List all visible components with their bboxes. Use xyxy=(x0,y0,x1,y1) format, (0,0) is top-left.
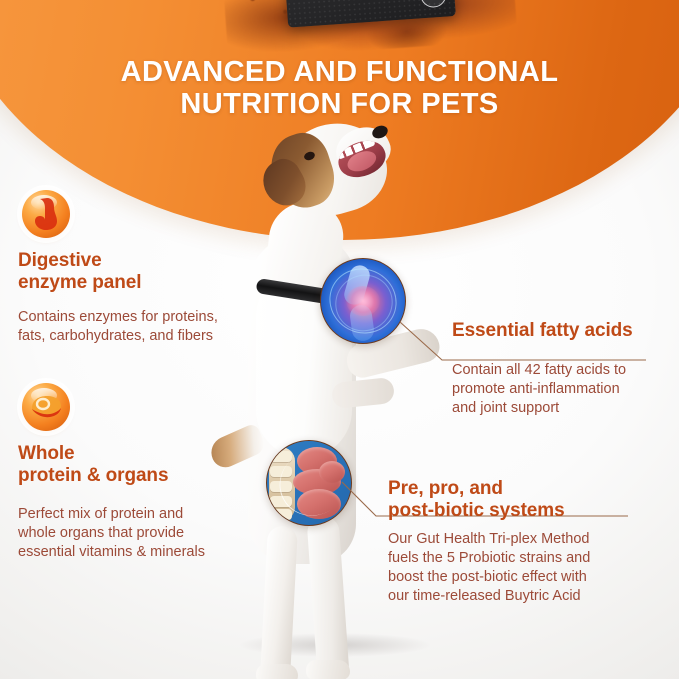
meat-cut-icon xyxy=(22,383,70,431)
fatty-body-line-2: promote anti-inflammation xyxy=(452,381,620,397)
whole-title-line-2: protein & organs xyxy=(18,465,168,486)
feature-title-digestive: Digestive enzyme panel xyxy=(18,250,248,295)
feature-body-fatty-acids: Contain all 42 fatty acids to promote an… xyxy=(452,361,674,418)
headline-line-1: ADVANCED AND FUNCTIONAL xyxy=(121,56,559,88)
fatty-body-line-1: Contain all 42 fatty acids to xyxy=(452,362,626,378)
biotic-body-line-3: boost the post-biotic effect with xyxy=(388,569,587,585)
biotic-body-line-4: our time-released Buytric Acid xyxy=(388,588,581,604)
feature-title-biotic: Pre, pro, and post-biotic systems xyxy=(388,478,618,523)
biotic-title-line-1: Pre, pro, and xyxy=(388,478,503,499)
fatty-title-line-1: Essential fatty acids xyxy=(452,320,633,341)
infographic-canvas: BRAND PET FOR DOGS ADVANCED AND FUNCTION… xyxy=(0,0,679,679)
feature-body-digestive: Contains enzymes for proteins, fats, car… xyxy=(18,308,262,346)
whole-body-line-3: essential vitamins & minerals xyxy=(18,544,205,560)
stomach-glyph xyxy=(33,197,59,231)
intestines-circle xyxy=(266,440,352,526)
stomach-icon xyxy=(22,190,70,238)
biotic-body-line-2: fuels the 5 Probiotic strains and xyxy=(388,550,590,566)
page-title: ADVANCED AND FUNCTIONAL NUTRITION FOR PE… xyxy=(0,56,679,121)
dog-right-foot xyxy=(306,660,350,679)
digestive-body-line-1: Contains enzymes for proteins, xyxy=(18,309,218,325)
joint-energy-ring-2 xyxy=(324,264,403,343)
digestive-title-line-1: Digestive xyxy=(18,250,102,271)
whole-body-line-2: whole organs that provide xyxy=(18,525,184,541)
headline-line-2: NUTRITION FOR PETS xyxy=(0,88,679,120)
digestive-title-line-2: enzyme panel xyxy=(18,272,141,293)
dog-second-paw xyxy=(331,377,395,409)
feature-title-whole-protein: Whole protein & organs xyxy=(18,443,248,488)
feature-title-fatty-acids: Essential fatty acids xyxy=(452,320,667,342)
meat-cut-glyph xyxy=(30,394,62,420)
dog-left-foot xyxy=(256,664,298,679)
biotic-title-line-2: post-biotic systems xyxy=(388,500,565,521)
biotic-body-line-1: Our Gut Health Tri-plex Method xyxy=(388,531,589,547)
whole-title-line-1: Whole xyxy=(18,443,75,464)
fatty-body-line-3: and joint support xyxy=(452,400,559,416)
feature-body-whole-protein: Perfect mix of protein and whole organs … xyxy=(18,505,254,562)
whole-body-line-1: Perfect mix of protein and xyxy=(18,506,183,522)
digestive-body-line-2: fats, carbohydrates, and fibers xyxy=(18,328,213,344)
feature-body-biotic: Our Gut Health Tri-plex Method fuels the… xyxy=(388,530,636,605)
joint-xray-circle xyxy=(320,258,406,344)
